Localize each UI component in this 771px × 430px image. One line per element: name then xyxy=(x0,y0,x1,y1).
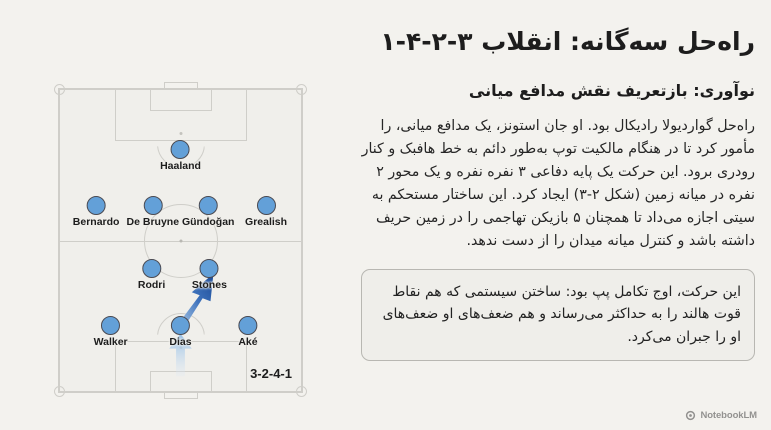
player-marker: De Bruyne xyxy=(127,196,180,228)
player-dot xyxy=(171,316,190,335)
body-paragraph: راه‌حل گواردیولا رادیکال بود. او جان است… xyxy=(361,115,755,253)
player-name: Gündoğan xyxy=(182,216,235,228)
player-dot xyxy=(238,316,257,335)
player-name: Haaland xyxy=(160,160,201,172)
player-marker: Stones xyxy=(192,259,227,291)
goal-area-bottom xyxy=(150,371,212,393)
formation-label: 3-2-4-1 xyxy=(250,366,292,381)
formation-diagram: HaalandBernardoDe BruyneGündoğanGrealish… xyxy=(58,88,303,393)
notebooklm-logo-icon xyxy=(685,410,696,421)
player-dot xyxy=(143,196,162,215)
player-name: Aké xyxy=(238,336,257,348)
section-subtitle: نوآوری: بازتعریف نقش مدافع میانی xyxy=(361,80,755,102)
pitch: HaalandBernardoDe BruyneGündoğanGrealish… xyxy=(58,88,303,393)
player-name: Stones xyxy=(192,279,227,291)
watermark: NotebookLM xyxy=(685,410,757,421)
player-marker: Gündoğan xyxy=(182,196,235,228)
player-dot xyxy=(257,196,276,215)
content-panel: راه‌حل سه‌گانه: انقلاب ۳-۲-۴-۱ نوآوری: ب… xyxy=(361,26,755,361)
player-dot xyxy=(87,196,106,215)
corner-arc-bottom-right xyxy=(296,386,307,397)
callout-box: این حرکت، اوج تکامل پپ بود: ساختن سیستمی… xyxy=(361,269,755,361)
player-marker: Haaland xyxy=(160,140,201,172)
player-marker: Aké xyxy=(238,316,257,348)
player-dot xyxy=(200,259,219,278)
page-title: راه‌حل سه‌گانه: انقلاب ۳-۲-۴-۱ xyxy=(361,26,755,59)
callout-text: این حرکت، اوج تکامل پپ بود: ساختن سیستمی… xyxy=(375,281,741,348)
player-dot xyxy=(101,316,120,335)
centre-spot xyxy=(179,239,182,242)
player-marker: Bernardo xyxy=(73,196,120,228)
player-name: Rodri xyxy=(138,279,165,291)
player-name: Dias xyxy=(169,336,191,348)
corner-arc-top-left xyxy=(54,84,65,95)
player-marker: Grealish xyxy=(245,196,287,228)
player-dot xyxy=(199,196,218,215)
player-name: Bernardo xyxy=(73,216,120,228)
watermark-label: NotebookLM xyxy=(700,410,757,421)
goal-bottom xyxy=(164,392,198,399)
player-marker: Rodri xyxy=(138,259,165,291)
player-name: De Bruyne xyxy=(127,216,180,228)
player-dot xyxy=(142,259,161,278)
player-name: Walker xyxy=(94,336,128,348)
player-marker: Dias xyxy=(169,316,191,348)
player-marker: Walker xyxy=(94,316,128,348)
goal-area-top xyxy=(150,89,212,111)
penalty-spot-top xyxy=(179,132,182,135)
player-dot xyxy=(171,140,190,159)
corner-arc-bottom-left xyxy=(54,386,65,397)
corner-arc-top-right xyxy=(296,84,307,95)
player-name: Grealish xyxy=(245,216,287,228)
